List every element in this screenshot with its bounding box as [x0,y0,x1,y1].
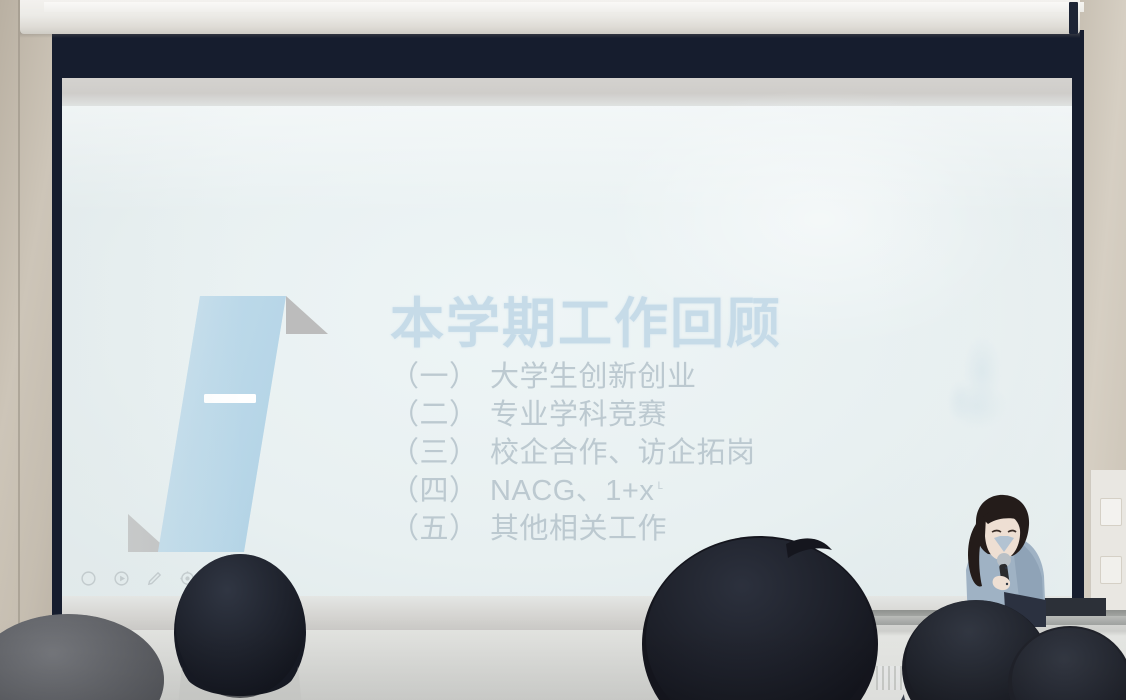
ribbon-banner-graphic [118,274,368,574]
slide-list-item: （四）NACG、1+xʟ [390,473,1040,511]
item-text: 专业学科竞赛 [490,399,667,431]
slide-text-block: 本学期工作回顾 （一）大学生创新创业 （二）专业学科竞赛 （三）校企合作、访企拓… [390,296,1040,549]
projector-roller-case [20,0,1080,34]
roller-bracket [1069,2,1078,34]
wall-socket-lower [1100,556,1122,584]
wall-socket-upper [1100,498,1122,526]
item-text: NACG、1+x [490,475,654,507]
roller-highlight [44,2,1084,12]
audience-head-gray [0,584,172,700]
item-number: （五） [390,511,490,549]
slide-title: 本学期工作回顾 [390,296,1040,353]
item-text: 校企合作、访企拓岗 [490,437,756,469]
slide-list-item: （三）校企合作、访企拓岗 [390,435,1040,473]
slide-list-item: （一）大学生创新创业 [390,359,1040,397]
slide-list-item: （二）专业学科竞赛 [390,397,1040,435]
screen-unlit-strip-top [62,78,1072,106]
audience-head-left [168,536,318,700]
item-number: （四） [390,473,490,511]
audience-head-center [636,520,886,700]
item-text: 大学生创新创业 [490,361,697,393]
audience-head-far-right [1006,614,1126,700]
item-superscript: ʟ [657,476,663,492]
screenshot-root: 本学期工作回顾 （一）大学生创新创业 （二）专业学科竞赛 （三）校企合作、访企拓… [0,0,1126,700]
item-number: （一） [390,359,490,397]
item-number: （二） [390,397,490,435]
projected-slide: 本学期工作回顾 （一）大学生创新创业 （二）专业学科竞赛 （三）校企合作、访企拓… [62,106,1072,596]
wall-seam [18,0,20,640]
item-number: （三） [390,435,490,473]
